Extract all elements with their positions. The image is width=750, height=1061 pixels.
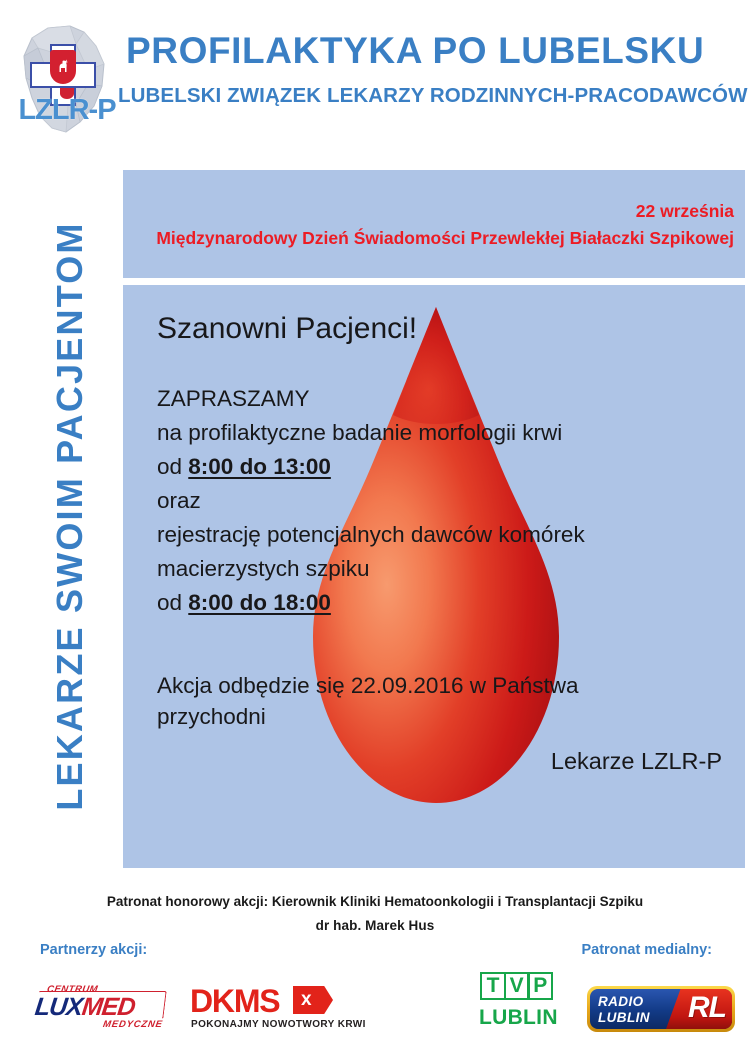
tvp-letters-row: T V P [480, 972, 551, 1000]
radio-lublin-line-2: LUBLIN [598, 1010, 650, 1026]
patronage-line-2: dr hab. Marek Hus [0, 914, 750, 938]
luxmed-med-text: MED [80, 993, 136, 1021]
hours-1-value: 8:00 do 13:00 [188, 454, 331, 479]
main-text-block: Szanowni Pacjenci! ZAPRASZAMY na profila… [123, 285, 745, 868]
vertical-slogan: LEKARZE SWOIM PACJENTOM [49, 156, 91, 876]
main-content-panel: Szanowni Pacjenci! ZAPRASZAMY na profila… [123, 285, 745, 868]
hours-2-prefix: od [157, 590, 188, 615]
radio-lublin-plate: RADIO LUBLIN RL [587, 986, 735, 1032]
logo-acronym-text: LZLR-P [13, 94, 121, 127]
tvp-letter-t: T [480, 972, 506, 1000]
dkms-badge-letter: x [301, 989, 312, 1011]
page-title: PROFILAKTYKA PO LUBELSKU [126, 30, 746, 72]
luxmed-wordmark: LUXMED [33, 993, 136, 1022]
greeting-heading: Szanowni Pacjenci! [157, 312, 417, 346]
body-line-hours-2: od 8:00 do 18:00 [157, 586, 585, 620]
tvp-lublin-logo[interactable]: T V P LUBLIN [480, 972, 572, 1034]
signature-text: Lekarze LZLR-P [551, 748, 722, 775]
radio-lublin-inner: RADIO LUBLIN RL [590, 989, 732, 1029]
dkms-tagline: POKONAJMY NOWOTWORY KRWI [191, 1019, 366, 1030]
dkms-badge-icon: x [293, 986, 333, 1014]
tvp-city-text: LUBLIN [479, 1006, 558, 1030]
event-banner-panel: 22 września Międzynarodowy Dzień Świadom… [123, 170, 745, 278]
closing-line-2: przychodni [157, 701, 579, 732]
body-paragraph: ZAPRASZAMY na profilaktyczne badanie mor… [157, 382, 585, 620]
closing-line-1: Akcja odbędzie się 22.09.2016 w Państwa [157, 670, 579, 701]
luxmed-bottom-text: MEDYCZNE [102, 1019, 163, 1030]
radio-lublin-monogram: RL [688, 991, 726, 1025]
poster-header: LZLR-P PROFILAKTYKA PO LUBELSKU LUBELSKI… [0, 0, 750, 150]
patronage-block: Patronat honorowy akcji: Kierownik Klini… [0, 890, 750, 938]
tvp-letter-v: V [504, 972, 530, 1000]
body-line-invite: ZAPRASZAMY [157, 382, 585, 416]
event-name: Międzynarodowy Dzień Świadomości Przewle… [156, 228, 734, 249]
body-line-registration-2: macierzystych szpiku [157, 552, 585, 586]
dkms-logo[interactable]: DKMS x POKONAJMY NOWOTWORY KRWI [190, 983, 340, 1031]
media-patronage-label: Patronat medialny: [581, 942, 712, 958]
body-line-and: oraz [157, 484, 585, 518]
event-date: 22 września [636, 201, 734, 222]
partners-label: Partnerzy akcji: [40, 942, 147, 958]
body-line-blood-test: na profilaktyczne badanie morfologii krw… [157, 416, 585, 450]
body-line-registration-1: rejestrację potencjalnych dawców komórek [157, 518, 585, 552]
lublin-coat-of-arms-icon [50, 50, 76, 84]
deer-icon [55, 58, 72, 76]
dkms-wordmark: DKMS [190, 983, 279, 1020]
radio-lublin-logo[interactable]: RADIO LUBLIN RL [587, 986, 735, 1032]
radio-lublin-line-1: RADIO [598, 994, 650, 1010]
page-subtitle: LUBELSKI ZWIĄZEK LEKARZY RODZINNYCH-PRAC… [118, 84, 746, 108]
luxmed-lux-text: LUX [33, 993, 83, 1021]
hours-2-value: 8:00 do 18:00 [188, 590, 331, 615]
tvp-letter-p: P [527, 972, 553, 1000]
luxmed-logo[interactable]: CENTRUM LUXMED MEDYCZNE [35, 984, 167, 1032]
lzlr-p-map-cross-logo: LZLR-P [12, 22, 122, 140]
radio-lublin-wordmark: RADIO LUBLIN [598, 994, 650, 1025]
patronage-line-1: Patronat honorowy akcji: Kierownik Klini… [0, 890, 750, 914]
hours-1-prefix: od [157, 454, 188, 479]
body-line-hours-1: od 8:00 do 13:00 [157, 450, 585, 484]
closing-paragraph: Akcja odbędzie się 22.09.2016 w Państwa … [157, 670, 579, 732]
